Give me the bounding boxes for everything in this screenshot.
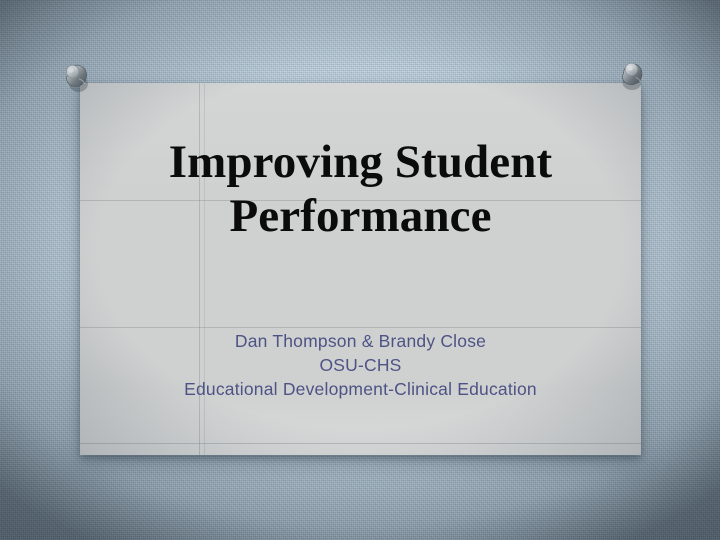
slide-gridline-horizontal-2 <box>80 327 641 328</box>
subtitle-line-institution: OSU-CHS <box>104 353 617 377</box>
slide-title-placeholder[interactable]: Improving Student Performance <box>104 135 617 243</box>
slide-subtitle-placeholder[interactable]: Dan Thompson & Brandy Close OSU-CHS Educ… <box>104 329 617 401</box>
subtitle-line-authors: Dan Thompson & Brandy Close <box>104 329 617 353</box>
subtitle-line-department: Educational Development-Clinical Educati… <box>104 377 617 401</box>
slide-preview-stage: Improving Student Performance Dan Thomps… <box>0 0 720 540</box>
slide-title: Improving Student Performance <box>104 135 617 243</box>
slide-gridline-horizontal-3 <box>80 443 641 444</box>
presentation-slide[interactable]: Improving Student Performance Dan Thomps… <box>80 83 641 455</box>
